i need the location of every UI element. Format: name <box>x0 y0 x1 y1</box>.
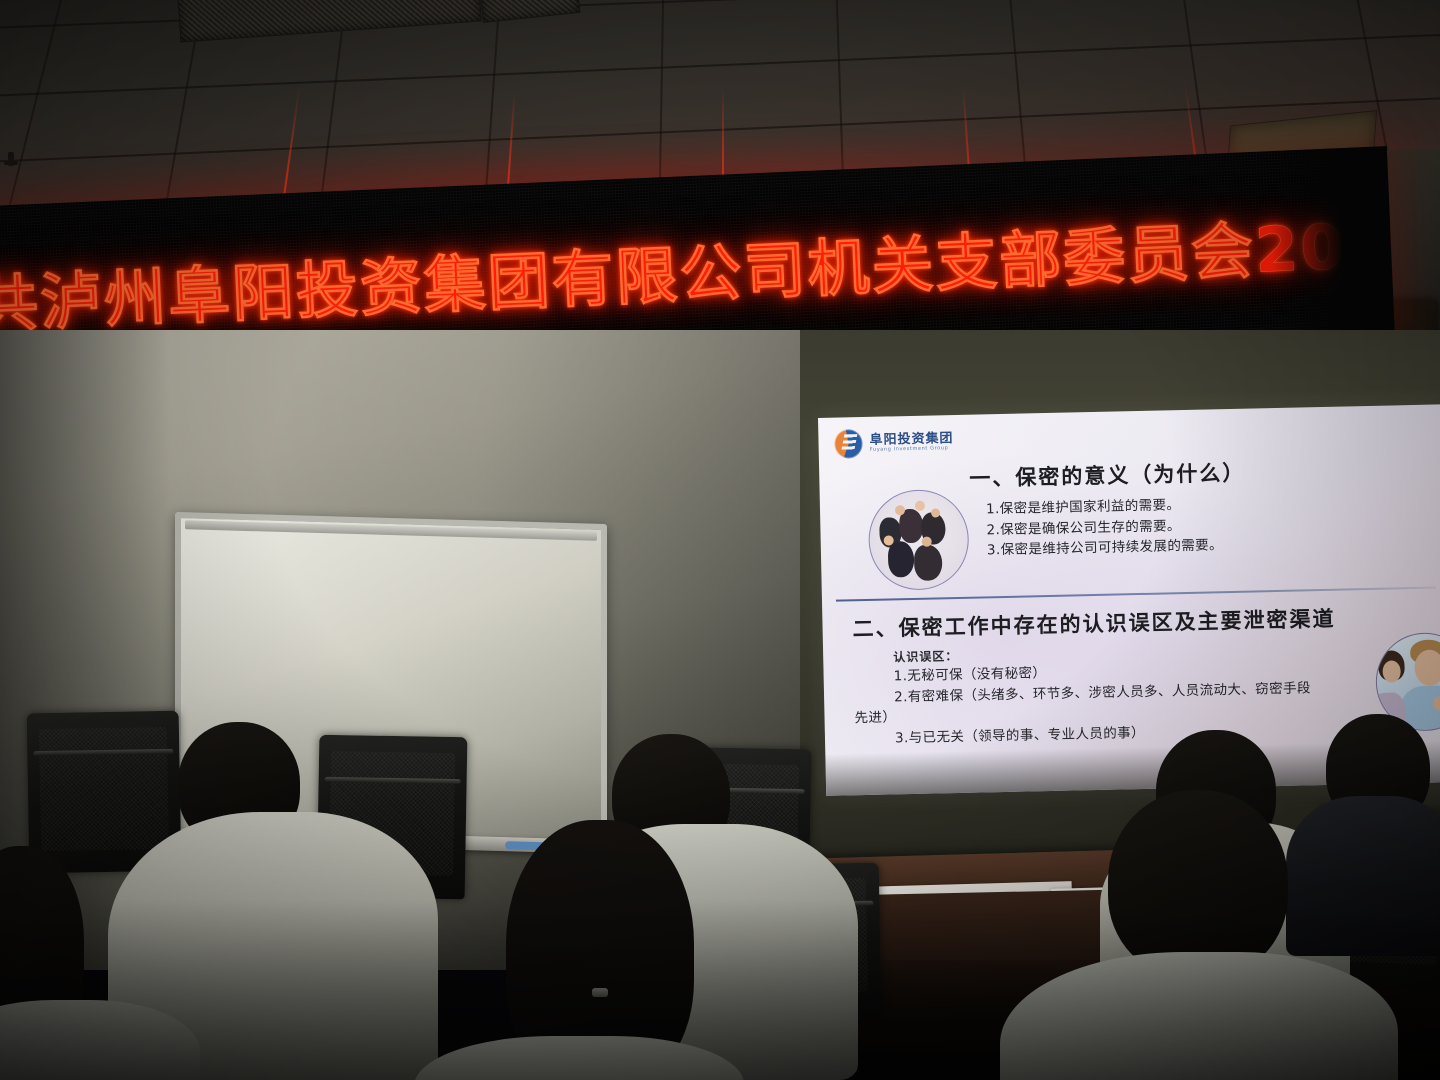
attendee-body <box>1286 796 1440 956</box>
ceiling-air-vent <box>176 0 482 42</box>
attendee-head <box>1108 790 1288 978</box>
company-logo-en: Fuyang Investment Group <box>870 445 954 453</box>
ceiling-tile-seam <box>0 32 1440 98</box>
led-banner-dark-end <box>1267 146 1395 337</box>
photo-face <box>1414 649 1440 686</box>
company-emblem-icon <box>834 429 863 459</box>
photo-figure <box>888 541 915 578</box>
photo-figure <box>914 544 943 581</box>
slide-section-1: 一、保密的意义（为什么） 1.保密是维护国家利益的需要。 2.保密是确保公司生存… <box>969 452 1440 561</box>
company-logo: 阜阳投资集团 Fuyang Investment Group <box>834 427 954 459</box>
chair-rail <box>325 777 461 784</box>
chair-rail <box>33 749 173 756</box>
fire-sprinkler-head <box>8 152 14 166</box>
hair-clip <box>592 988 608 997</box>
meeting-room-photo: 共泸州阜阳投资集团有限公司机关支部委员会2019年6月固定党日 阜阳投资集团 F… <box>0 0 1440 1080</box>
led-banner-text: 共泸州阜阳投资集团有限公司机关支部委员会2019年6月固定党日 <box>0 197 1317 344</box>
photo-face <box>915 501 925 511</box>
ceiling-air-vent <box>478 0 581 23</box>
